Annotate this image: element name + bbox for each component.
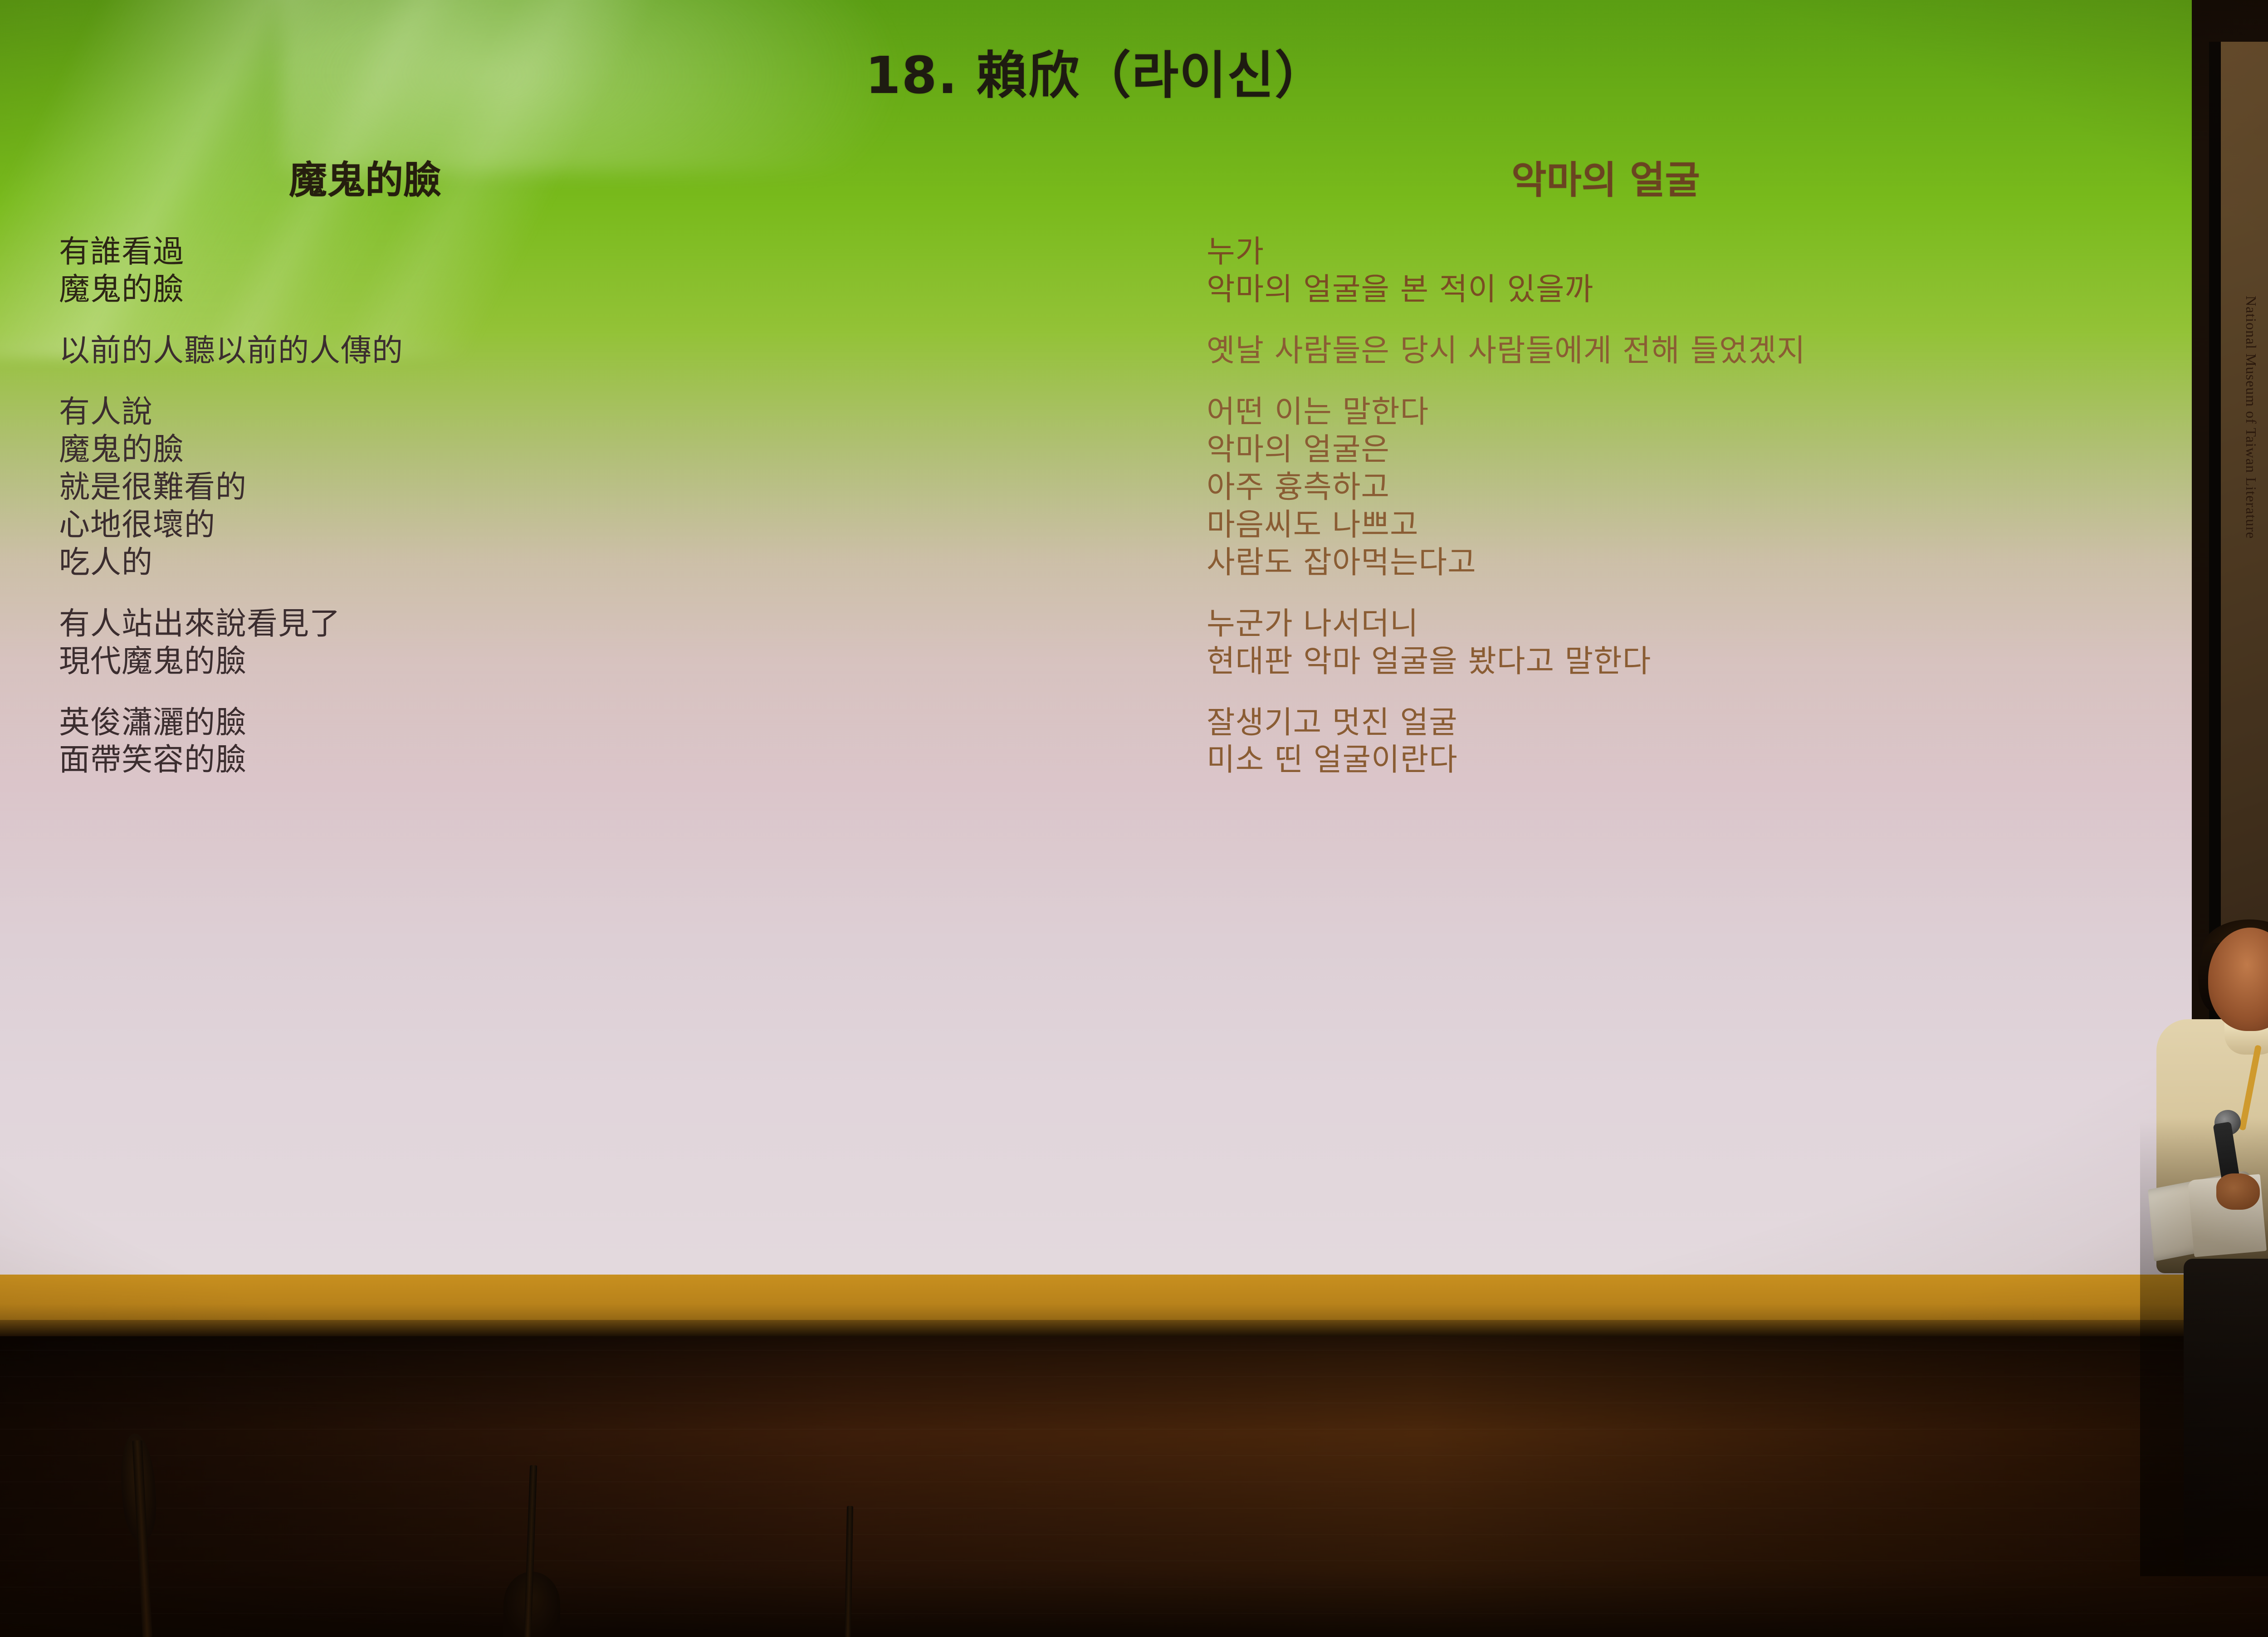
screen-bottom-shadow bbox=[0, 1320, 2192, 1336]
speaker-person bbox=[2140, 923, 2268, 1576]
poem-line: 魔鬼的臉 bbox=[0, 271, 1043, 309]
poem-line: 心地很壞的 bbox=[0, 507, 1043, 544]
slide-title: 18. 賴欣（라이신） bbox=[0, 34, 2192, 108]
poem-line: 잘생기고 멋진 얼굴 bbox=[1161, 704, 2191, 742]
poem-line: 現代魔鬼的臉 bbox=[0, 643, 1043, 681]
speaker-trousers bbox=[2184, 1259, 2268, 1576]
poem-line: 악마의 얼굴을 본 적이 있을까 bbox=[1161, 271, 2191, 309]
poem-line: 魔鬼的臉 bbox=[0, 431, 1043, 469]
poem-line: 以前的人聽以前的人傳的 bbox=[0, 332, 1043, 370]
auditorium-stage-scene: 18. 賴欣（라이신） 魔鬼的臉 有誰看過 魔鬼的臉 以前的人聽以前的人傳的 有… bbox=[0, 0, 2268, 1637]
stanza: 누군가 나서더니 현대판 악마 얼굴을 봤다고 말한다 bbox=[1161, 606, 2191, 681]
poem-line: 就是很難看的 bbox=[0, 469, 1043, 507]
stage-floor bbox=[0, 1297, 2268, 1637]
stanza: 英俊瀟灑的臉 面帶笑容的臉 bbox=[0, 704, 1043, 780]
stanza: 有誰看過 魔鬼的臉 bbox=[0, 234, 1043, 309]
poem-line: 面帶笑容的臉 bbox=[0, 742, 1043, 779]
poem-line: 吃人的 bbox=[0, 544, 1043, 582]
banner-museum-en: National Museum of Taiwan Literature bbox=[2243, 296, 2259, 539]
poem-line: 악마의 얼굴은 bbox=[1161, 431, 2191, 469]
poem-line: 누군가 나서더니 bbox=[1161, 606, 2191, 643]
poem-line: 有人站出來說看見了 bbox=[0, 606, 1043, 643]
poem-line: 누가 bbox=[1161, 234, 2191, 271]
poem-line: 有誰看過 bbox=[0, 234, 1043, 271]
speaker-hand bbox=[2216, 1173, 2260, 1210]
poem-line: 옛날 사람들은 당시 사람들에게 전해 들었겠지 bbox=[1161, 332, 2191, 370]
floor-wood-grain bbox=[0, 1297, 2268, 1637]
poem-line: 미소 띤 얼굴이란다 bbox=[1161, 742, 2191, 779]
poem-line: 英俊瀟灑的臉 bbox=[0, 704, 1043, 742]
presentation-slide: 18. 賴欣（라이신） 魔鬼的臉 有誰看過 魔鬼的臉 以前的人聽以前的人傳的 有… bbox=[0, 0, 2192, 1275]
projection-screen: 18. 賴欣（라이신） 魔鬼的臉 有誰看過 魔鬼的臉 以前的人聽以前的人傳的 有… bbox=[0, 0, 2192, 1275]
poem-line: 현대판 악마 얼굴을 봤다고 말한다 bbox=[1161, 643, 2191, 681]
stanza: 잘생기고 멋진 얼굴 미소 띤 얼굴이란다 bbox=[1161, 704, 2191, 780]
screen-bottom-trim bbox=[0, 1275, 2192, 1324]
poem-line: 有人說 bbox=[0, 394, 1043, 431]
poem-line: 사람도 잡아먹는다고 bbox=[1161, 544, 2191, 582]
poem-line: 어떤 이는 말한다 bbox=[1161, 394, 2191, 431]
stanza: 有人說 魔鬼的臉 就是很難看的 心地很壞的 吃人的 bbox=[0, 394, 1043, 582]
stanza: 以前的人聽以前的人傳的 bbox=[0, 332, 1043, 370]
poem-line: 마음씨도 나쁘고 bbox=[1161, 507, 2191, 544]
poem-column-chinese: 魔鬼的臉 有誰看過 魔鬼的臉 以前的人聽以前的人傳的 有人說 魔鬼的臉 就是很難… bbox=[0, 150, 1043, 803]
stanza: 어떤 이는 말한다 악마의 얼굴은 아주 흉측하고 마음씨도 나쁘고 사람도 잡… bbox=[1161, 394, 2191, 582]
banner-museum-zh: 國立臺灣文學館 bbox=[2264, 146, 2268, 432]
banner-upper-panel: （社） ICSP 國際時調協會 International Society of… bbox=[2209, 42, 2268, 953]
stanza: 옛날 사람들은 당시 사람들에게 전해 들었겠지 bbox=[1161, 332, 2191, 370]
poem-heading-chinese: 魔鬼的臉 bbox=[0, 150, 1043, 205]
stanza: 有人站出來說看見了 現代魔鬼的臉 bbox=[0, 606, 1043, 681]
poem-line: 아주 흉측하고 bbox=[1161, 469, 2191, 507]
poem-column-korean: 악마의 얼굴 누가 악마의 얼굴을 본 적이 있을까 옛날 사람들은 당시 사람… bbox=[1161, 150, 2191, 803]
stanza: 누가 악마의 얼굴을 본 적이 있을까 bbox=[1161, 234, 2191, 309]
poem-heading-korean: 악마의 얼굴 bbox=[1161, 150, 2191, 205]
